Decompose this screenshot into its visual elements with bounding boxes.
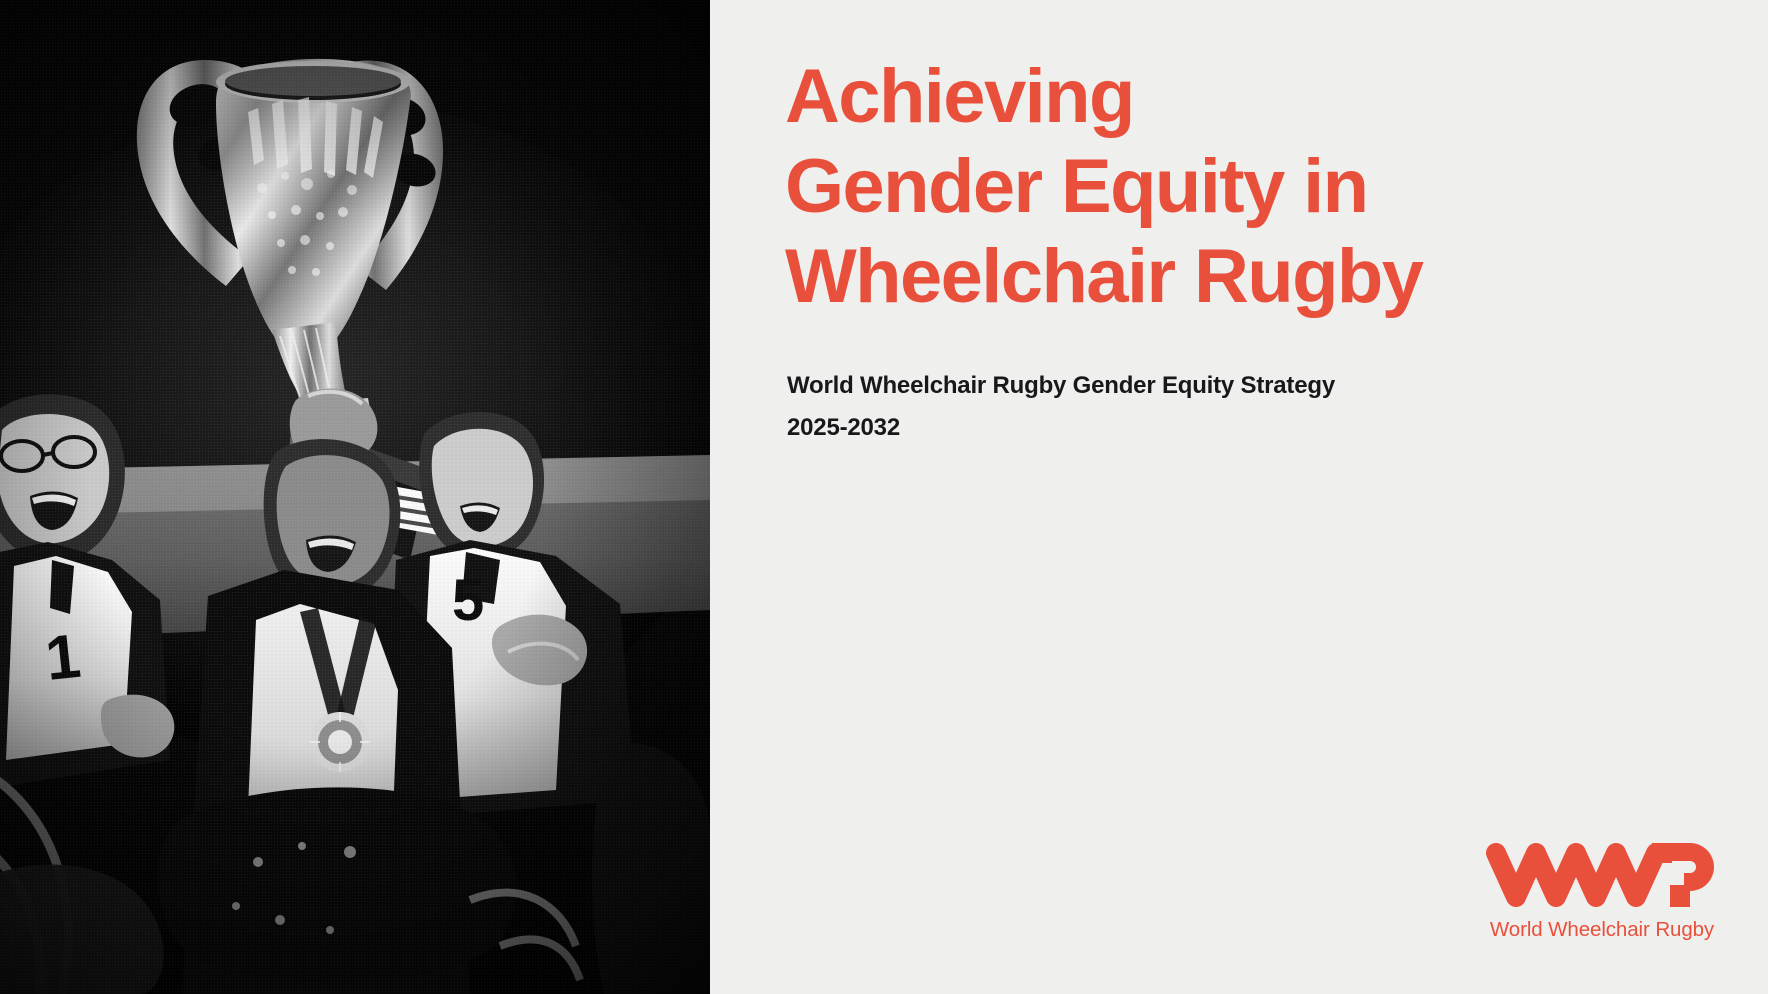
slide-root: 1 5 — [0, 0, 1768, 994]
title-line-1: Achieving — [785, 52, 1735, 142]
bib-number-1: 1 — [42, 622, 84, 694]
wwr-monogram-icon — [1484, 841, 1720, 913]
hero-photo-illustration: 1 5 — [0, 0, 710, 994]
bib-number-5: 5 — [452, 568, 484, 633]
wwr-logo: World Wheelchair Rugby — [1484, 841, 1720, 942]
content-area: Achieving Gender Equity in Wheelchair Ru… — [710, 0, 1768, 994]
subtitle-line-2: 2025-2032 — [787, 407, 1687, 449]
wwr-wordmark: World Wheelchair Rugby — [1484, 918, 1720, 942]
title-line-3: Wheelchair Rugby — [785, 232, 1735, 322]
page-title: Achieving Gender Equity in Wheelchair Ru… — [785, 52, 1735, 322]
page-subtitle: World Wheelchair Rugby Gender Equity Str… — [787, 365, 1687, 449]
title-line-2: Gender Equity in — [785, 142, 1735, 232]
hero-photo: 1 5 — [0, 0, 710, 994]
subtitle-line-1: World Wheelchair Rugby Gender Equity Str… — [787, 365, 1687, 407]
